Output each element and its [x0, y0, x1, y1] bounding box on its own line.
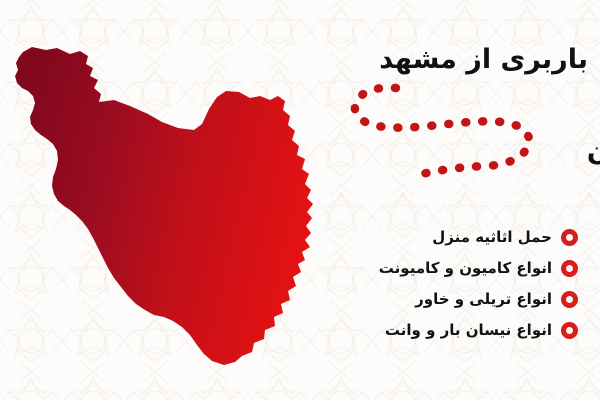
- bullet-circle-icon: [561, 229, 578, 246]
- services-list: حمل اثاثیه منزل انواع کامیون و کامیونت ا…: [258, 222, 578, 346]
- bullet-circle-icon: [561, 291, 578, 308]
- bullet-circle-icon: [561, 322, 578, 339]
- list-item[interactable]: انواع کامیون و کامیونت: [258, 253, 578, 284]
- headline-line-destination: به قوچان: [338, 138, 600, 166]
- banner-root: باربری از مشهد به قوچان حمل اثاثیه منزل …: [0, 0, 600, 400]
- headline-block: باربری از مشهد به قوچان: [338, 46, 588, 167]
- list-item[interactable]: حمل اثاثیه منزل: [258, 222, 578, 253]
- service-label: انواع کامیون و کامیونت: [379, 261, 552, 276]
- headline-line-origin: باربری از مشهد: [338, 46, 588, 74]
- service-label: انواع نیسان بار و وانت: [385, 323, 552, 338]
- list-item[interactable]: انواع نیسان بار و وانت: [258, 315, 578, 346]
- bullet-circle-icon: [561, 260, 578, 277]
- service-label: حمل اثاثیه منزل: [432, 230, 552, 245]
- list-item[interactable]: انواع تریلی و خاور: [258, 284, 578, 315]
- service-label: انواع تریلی و خاور: [415, 292, 552, 307]
